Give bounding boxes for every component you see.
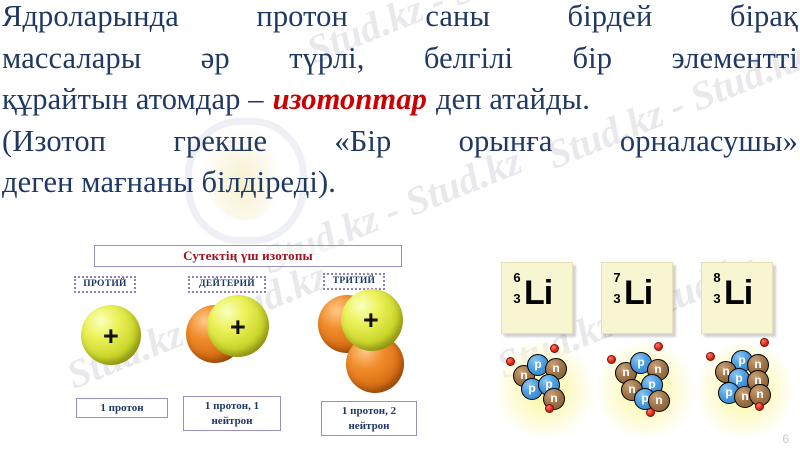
- line3-prefix: құрайтын атомдар –: [2, 79, 264, 121]
- lithium-6-symbol-card: 6 3 Li: [501, 262, 573, 334]
- electron-particle: [646, 408, 655, 417]
- word: (Изотоп: [2, 121, 106, 163]
- isotope-label-tritiy: ТРИТИЙ: [323, 273, 385, 290]
- hydrogen-diagram-title-box: Сутектің үш изотопы: [94, 245, 402, 267]
- lithium-isotope-unit: 6 3 Li n p n p p n: [497, 262, 593, 442]
- tritium-caption-box: 1 протон, 2 нейтрон: [321, 401, 417, 436]
- line3-suffix: деп атайды.: [436, 79, 590, 121]
- lithium-7-symbol-card: 7 3 Li: [601, 262, 673, 334]
- lithium-isotopes-diagram: 6 3 Li n p n p p n 7: [497, 262, 797, 442]
- tritium-caption-line-2: нейтрон: [348, 420, 389, 432]
- isotope-label-deiteriy: ДЕЙТЕРИЙ: [188, 276, 266, 293]
- word: саны: [425, 0, 490, 38]
- word: массалары: [2, 38, 141, 80]
- word: Ядроларында: [2, 0, 179, 38]
- paragraph-line-5: деген мағнаны білдіреді).: [2, 162, 798, 204]
- electron-particle: [545, 404, 554, 413]
- tritium-plus-sign: +: [363, 307, 379, 334]
- hydrogen-diagram-title: Сутектің үш изотопы: [95, 246, 401, 266]
- element-symbol: Li: [624, 276, 652, 310]
- word: әр: [201, 38, 230, 80]
- electron-particle: [654, 342, 663, 351]
- lithium-8-notation: 8 3 Li: [711, 271, 752, 310]
- paragraph-line-3: құрайтын атомдар – изотоптар деп атайды.: [2, 79, 798, 121]
- hydrogen-isotopes-diagram: Сутектің үш изотопы ПРОТИЙ ДЕЙТЕРИЙ ТРИТ…: [78, 243, 408, 443]
- lithium-6-notation: 6 3 Li: [511, 271, 552, 310]
- word: бірақ: [730, 0, 798, 38]
- deuterium-caption-line-2: нейтрон: [211, 415, 252, 427]
- atomic-number: 3: [611, 292, 623, 306]
- electron-particle: [550, 344, 559, 353]
- word: элементті: [672, 38, 799, 80]
- keyword-izotoptar: изотоптар: [273, 79, 427, 121]
- line5-text: деген мағнаны білдіреді).: [2, 165, 336, 199]
- electron-particle: [706, 352, 715, 361]
- deuterium-caption-line-1: 1 протон, 1: [205, 400, 259, 412]
- lithium-7-numbers: 7 3: [611, 271, 623, 306]
- word: грекше: [173, 121, 267, 163]
- word: протон: [256, 0, 348, 38]
- lithium-isotope-unit: 8 3 Li p n n p n p n n: [697, 262, 793, 442]
- mass-number: 6: [511, 271, 523, 285]
- paragraph-line-4: (Изотоп грекше «Бір орынға орналасушы»: [2, 121, 798, 163]
- slide-canvas: Stud.kz - Stud.kz Stud.kz - Stud.kz Stud…: [0, 0, 800, 450]
- word: түрлі,: [289, 38, 364, 80]
- deuterium-plus-sign: +: [230, 314, 246, 341]
- lithium-6-numbers: 6 3: [511, 271, 523, 306]
- deuterium-caption-box: 1 протон, 1 нейтрон: [183, 396, 281, 431]
- word: бірдей: [568, 0, 653, 38]
- mass-number: 7: [611, 271, 623, 285]
- isotope-label-protiy: ПРОТИЙ: [74, 276, 136, 293]
- paragraph-line-2: массалары әр түрлі, белгілі бір элементт…: [2, 38, 798, 80]
- tritium-caption-line-1: 1 протон, 2: [342, 405, 396, 417]
- word: бір: [573, 38, 613, 80]
- word: орналасушы»: [620, 121, 798, 163]
- electron-particle: [760, 338, 769, 347]
- electron-particle: [506, 357, 515, 366]
- paragraph-line-1: Ядроларында протон саны бірдей бірақ: [2, 0, 798, 38]
- lithium-isotope-unit: 7 3 Li n p n p n p n: [597, 262, 693, 442]
- atomic-number: 3: [511, 292, 523, 306]
- lithium-8-numbers: 8 3: [711, 271, 723, 306]
- protium-plus-sign: +: [103, 323, 119, 350]
- word: белгілі: [424, 38, 513, 80]
- electron-particle: [607, 355, 616, 364]
- word: «Бір: [334, 121, 391, 163]
- word: орынға: [459, 121, 553, 163]
- atomic-number: 3: [711, 292, 723, 306]
- protium-caption-box: 1 протон: [76, 398, 168, 418]
- electron-particle: [755, 402, 764, 411]
- page-number: 6: [782, 432, 789, 446]
- element-symbol: Li: [724, 276, 752, 310]
- element-symbol: Li: [524, 276, 552, 310]
- protium-caption: 1 протон: [100, 402, 143, 414]
- lithium-7-notation: 7 3 Li: [611, 271, 652, 310]
- lithium-8-symbol-card: 8 3 Li: [701, 262, 773, 334]
- mass-number: 8: [711, 271, 723, 285]
- definition-paragraph: Ядроларында протон саны бірдей бірақ мас…: [2, 0, 798, 204]
